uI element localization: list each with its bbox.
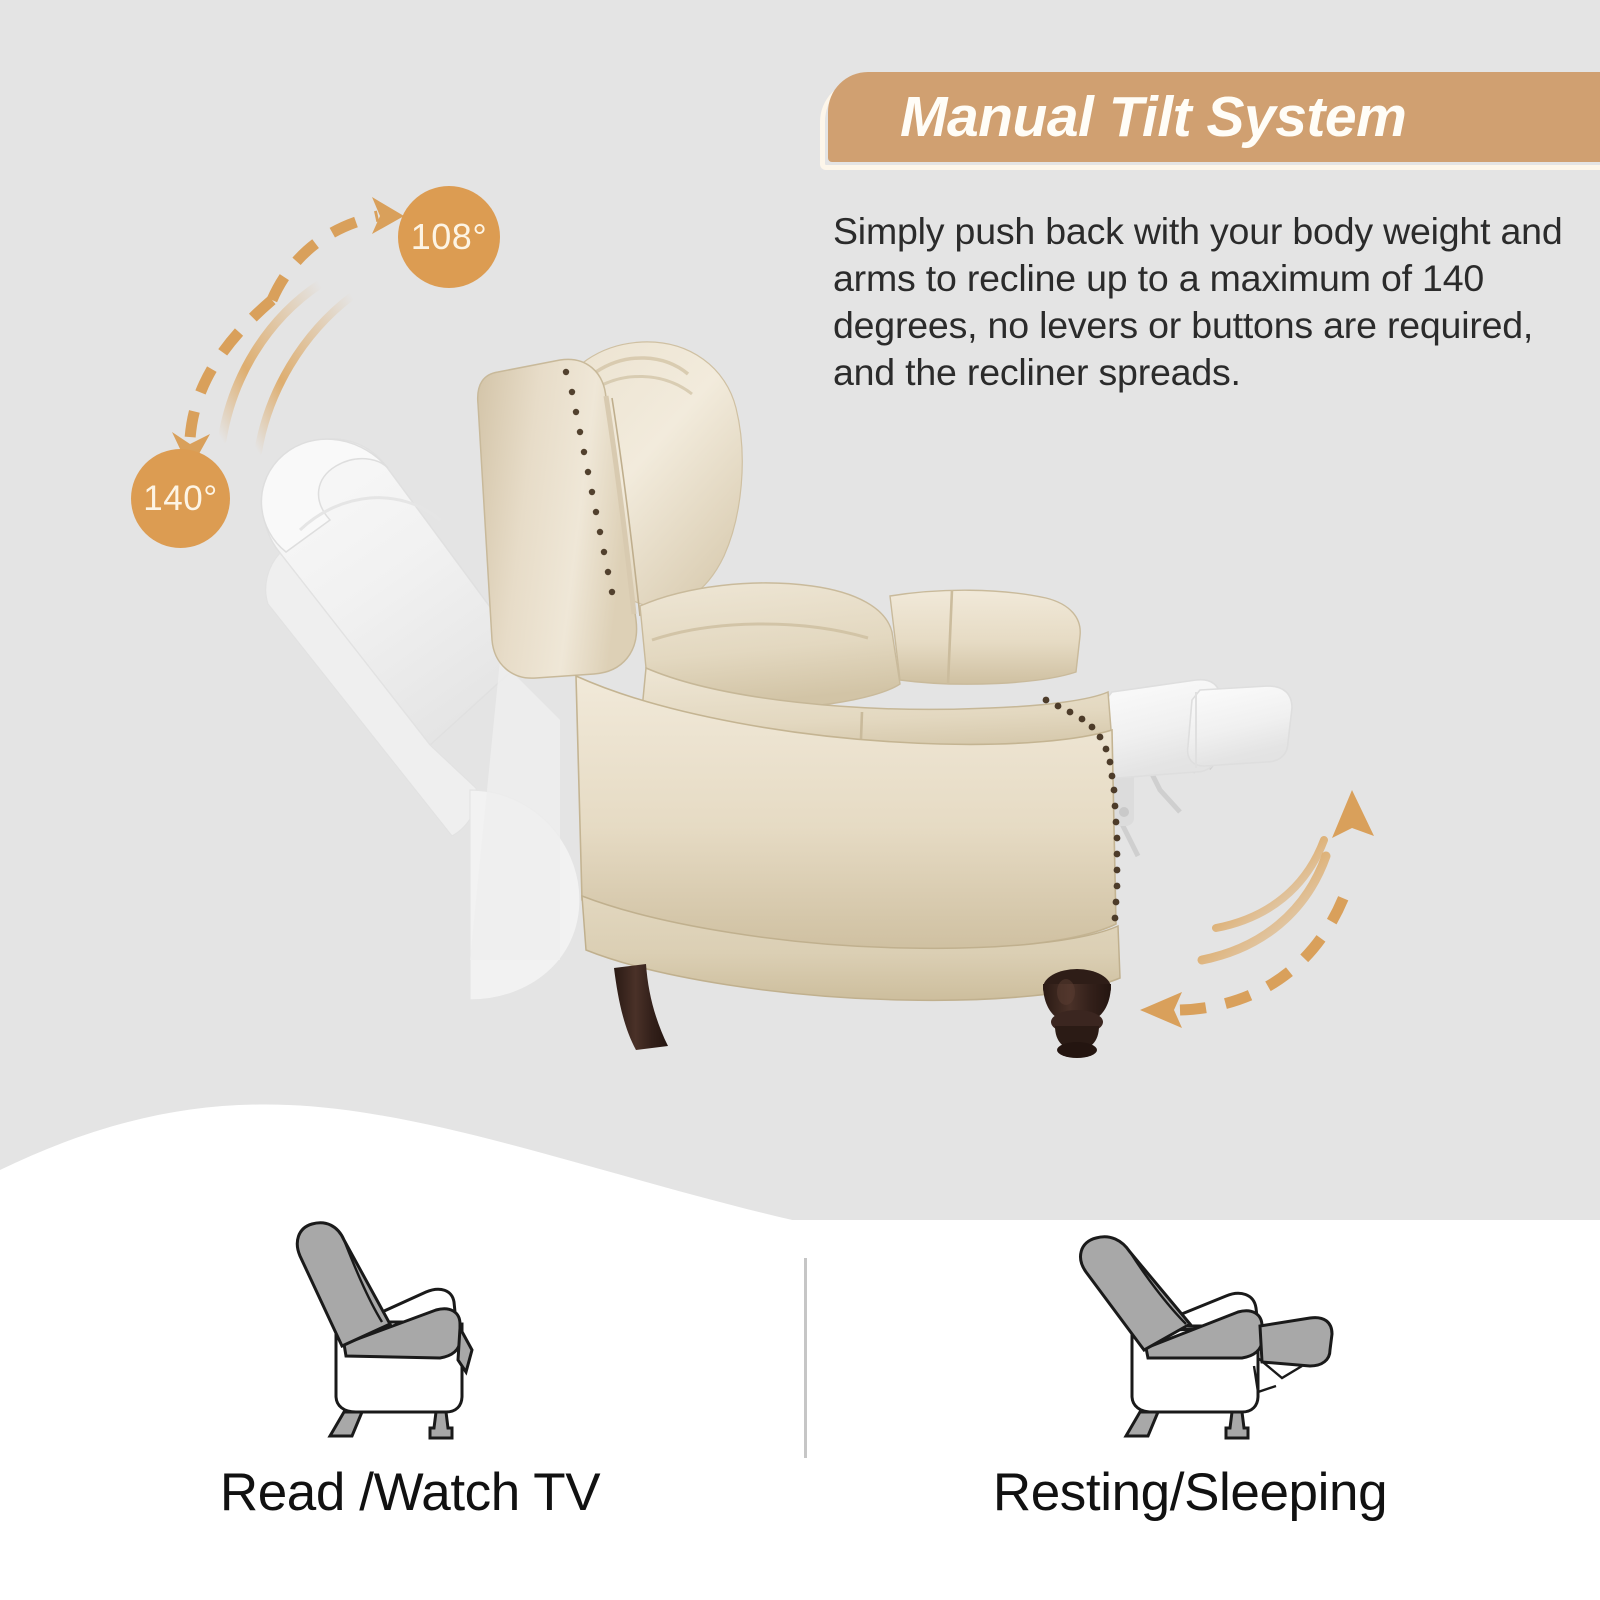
angle-badge-upright: 108° (398, 186, 500, 288)
feature-read-watch-tv: Read /Watch TV (110, 1190, 710, 1519)
page-title: Manual Tilt System (900, 89, 1406, 146)
banner-fill: Manual Tilt System (828, 72, 1600, 162)
feature-label-resting-sleeping: Resting/Sleeping (890, 1466, 1490, 1519)
title-banner: Manual Tilt System (820, 72, 1600, 170)
recliner-upright-icon (110, 1190, 710, 1440)
feature-label-read-watch-tv: Read /Watch TV (110, 1466, 710, 1519)
recliner-reclined-icon (890, 1190, 1490, 1440)
feature-divider (804, 1258, 807, 1458)
feature-resting-sleeping: Resting/Sleeping (890, 1190, 1490, 1519)
description-text: Simply push back with your body weight a… (833, 208, 1573, 396)
infographic-canvas: Manual Tilt System Simply push back with… (0, 0, 1600, 1600)
angle-badge-reclined: 140° (131, 449, 230, 548)
